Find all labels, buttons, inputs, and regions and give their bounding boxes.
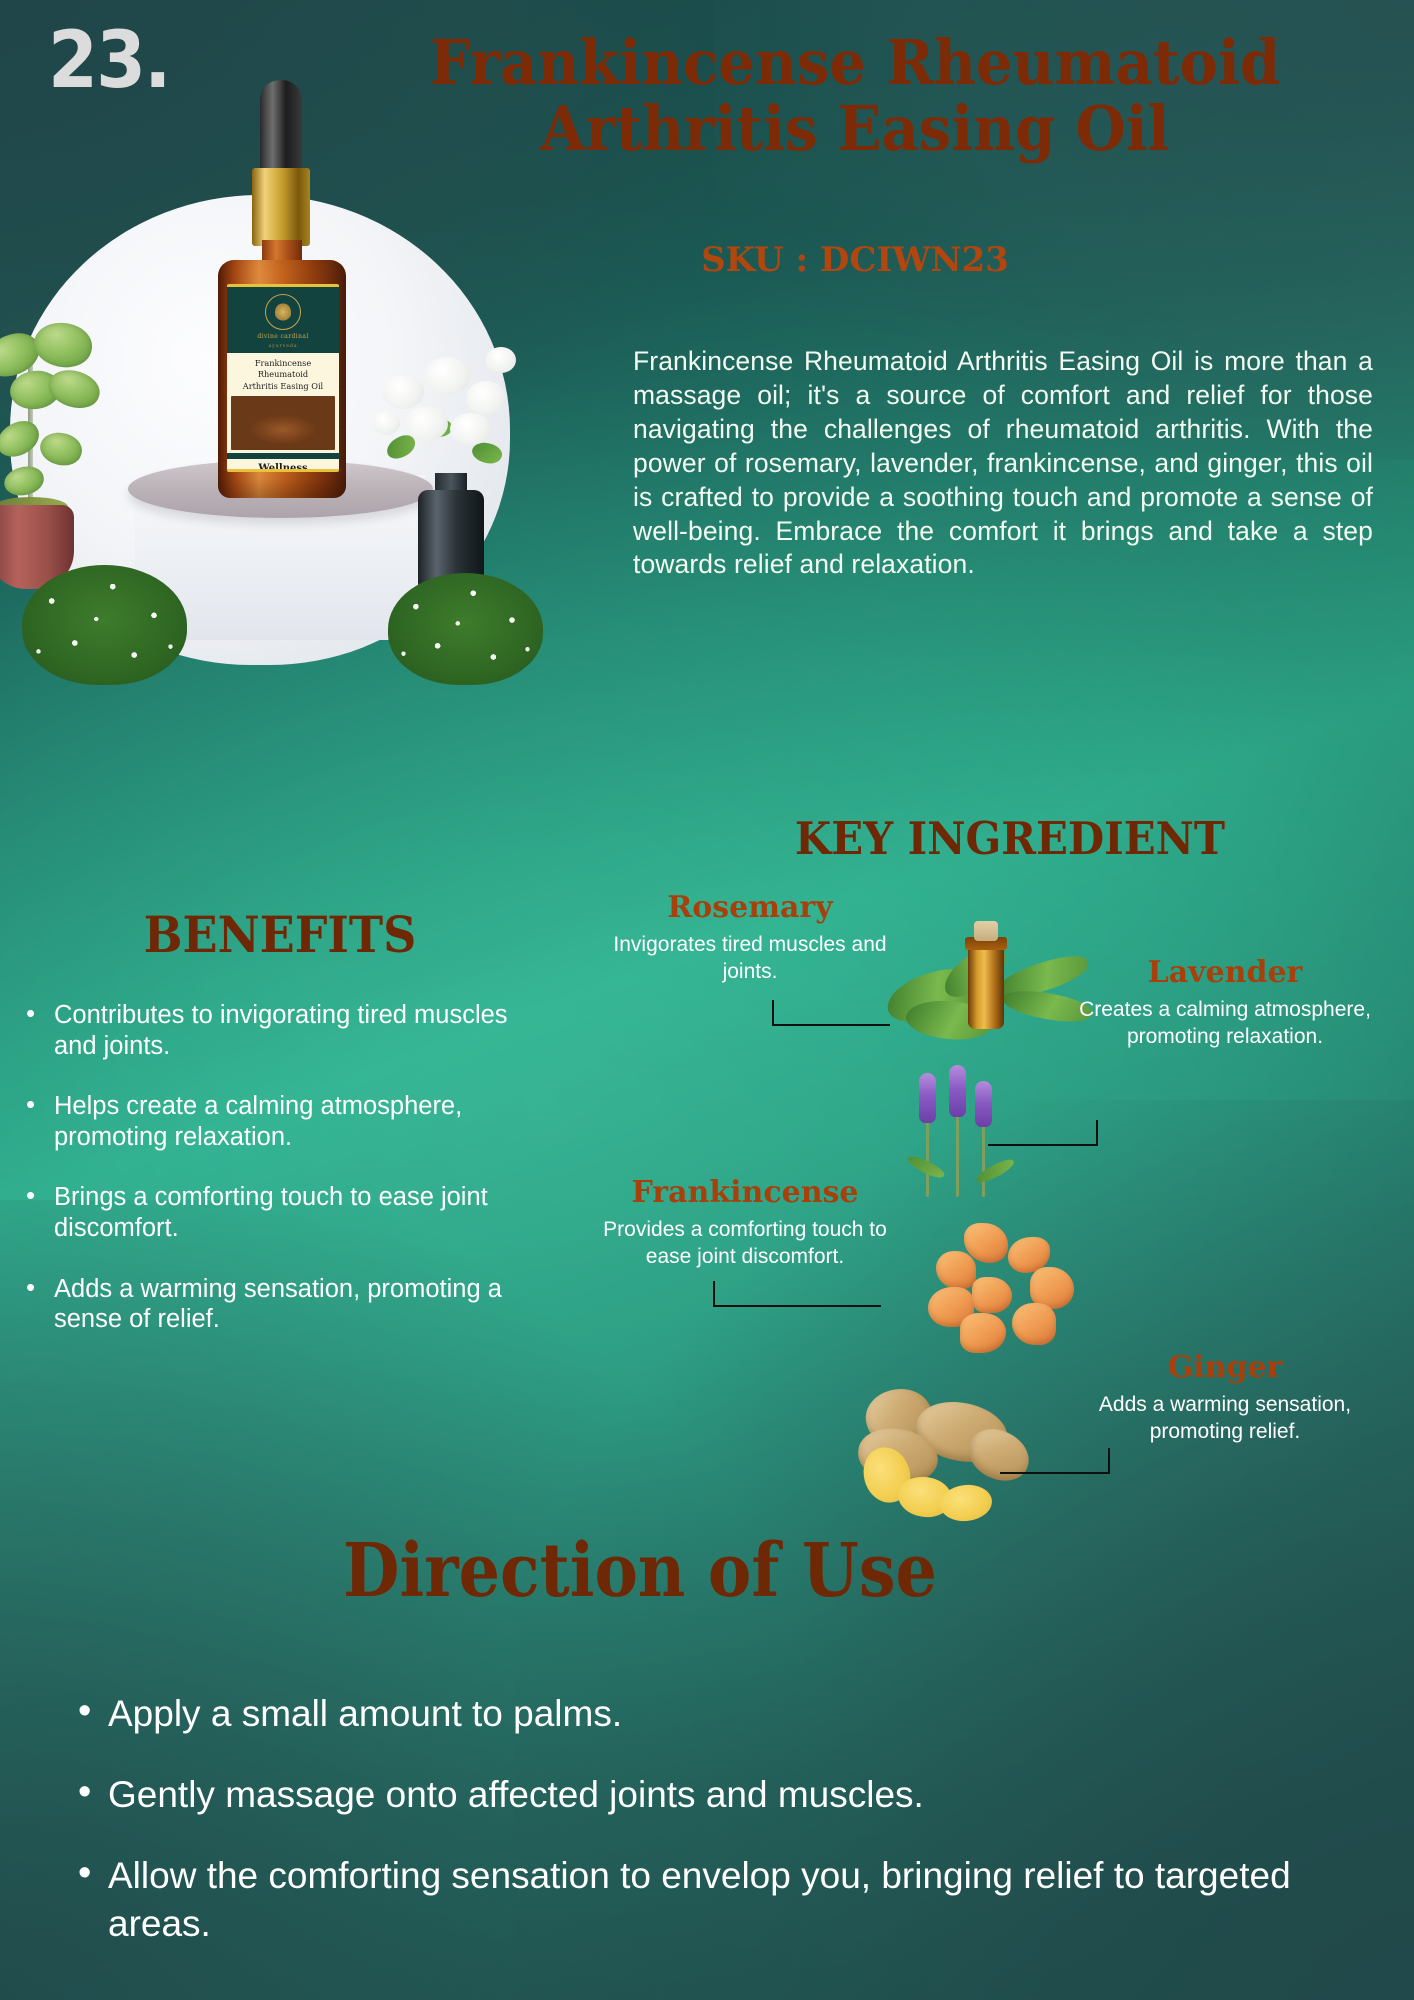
lavender-stem	[926, 1117, 929, 1197]
list-item: Apply a small amount to palms.	[40, 1690, 1380, 1739]
list-item: Brings a comforting touch to ease joint …	[14, 1182, 514, 1243]
list-item: Gently massage onto affected joints and …	[40, 1771, 1380, 1820]
direction-of-use-list: Apply a small amount to palms. Gently ma…	[40, 1690, 1380, 1981]
list-item: Allow the comforting sensation to envelo…	[40, 1852, 1380, 1950]
ingredient-ginger: Ginger Adds a warming sensation, promoti…	[1055, 1350, 1395, 1446]
lavender-leader-line	[988, 1120, 1098, 1146]
list-item: Helps create a calming atmosphere, promo…	[14, 1091, 514, 1152]
ingredient-lavender: Lavender Creates a calming atmosphere, p…	[1060, 955, 1390, 1051]
page-title-line1: Frankincense Rheumatoid	[367, 30, 1344, 96]
list-item: Contributes to invigorating tired muscle…	[14, 1000, 514, 1061]
product-hero-image: divine cardinal ayurveda Frankincense Rh…	[0, 175, 600, 695]
ingredient-description: Invigorates tired muscles and joints.	[600, 931, 900, 986]
lavender-flower	[949, 1065, 966, 1117]
ingredient-frankincense: Frankincense Provides a comforting touch…	[585, 1175, 905, 1271]
product-bottle: divine cardinal ayurveda Frankincense Rh…	[212, 80, 352, 500]
page-title: Frankincense Rheumatoid Arthritis Easing…	[367, 30, 1344, 161]
resin-chunk	[936, 1251, 976, 1289]
key-ingredient-heading: KEY INGREDIENT	[685, 812, 1336, 865]
tree-of-life-logo-icon	[265, 294, 301, 330]
white-flower	[404, 407, 448, 441]
resin-chunk	[1012, 1303, 1056, 1345]
page-title-line2: Arthritis Easing Oil	[367, 96, 1344, 162]
resin-chunk	[960, 1313, 1006, 1353]
ingredient-rosemary: Rosemary Invigorates tired muscles and j…	[600, 890, 900, 986]
flowering-shrub	[22, 565, 187, 685]
benefits-list: Contributes to invigorating tired muscle…	[14, 1000, 514, 1365]
product-label: divine cardinal ayurveda Frankincense Rh…	[227, 284, 339, 472]
lavender-flower	[919, 1073, 936, 1123]
direction-of-use-heading: Direction of Use	[235, 1528, 1045, 1614]
white-flower	[486, 347, 516, 373]
product-description: Frankincense Rheumatoid Arthritis Easing…	[633, 345, 1373, 582]
ingredient-name: Ginger	[1055, 1350, 1395, 1385]
ingredient-description: Provides a comforting touch to ease join…	[585, 1216, 905, 1271]
ingredient-name: Frankincense	[585, 1175, 905, 1210]
white-flower	[372, 411, 400, 435]
lavender-leaf	[973, 1156, 1016, 1185]
white-flower	[382, 375, 424, 409]
frankincense-resin-image	[920, 1215, 1095, 1365]
ginger-leader-line	[1000, 1448, 1110, 1474]
label-brand-subtitle: ayurveda	[227, 344, 339, 349]
label-name-line2: Arthritis Easing Oil	[230, 381, 336, 392]
ingredient-name: Rosemary	[600, 890, 900, 925]
ingredient-description: Creates a calming atmosphere, promoting …	[1060, 996, 1390, 1051]
label-header: divine cardinal ayurveda	[227, 287, 339, 353]
gold-collar	[252, 168, 310, 246]
label-resin-bowl-photo	[231, 396, 335, 450]
ingredient-name: Lavender	[1060, 955, 1390, 990]
frankincense-leader-line	[713, 1281, 881, 1307]
label-brand-name: divine cardinal	[227, 333, 339, 340]
white-flower	[424, 357, 470, 395]
lavender-stem	[956, 1109, 959, 1197]
list-item: Adds a warming sensation, promoting a se…	[14, 1274, 514, 1335]
vial-cork	[974, 921, 998, 941]
label-product-name: Frankincense Rheumatoid Arthritis Easing…	[227, 353, 339, 396]
white-flower	[466, 381, 506, 415]
amber-bottle-body: divine cardinal ayurveda Frankincense Rh…	[218, 260, 346, 498]
label-name-line1: Frankincense Rheumatoid	[230, 358, 336, 381]
lavender-stem	[982, 1123, 985, 1197]
essential-oil-vial	[968, 937, 1004, 1029]
ingredient-description: Adds a warming sensation, promoting reli…	[1055, 1391, 1395, 1446]
dropper-cap	[260, 80, 302, 172]
rosemary-leader-line	[772, 1000, 890, 1026]
slide-number: 23.	[48, 22, 170, 100]
flowering-shrub	[388, 573, 543, 685]
benefits-heading: BENEFITS	[68, 905, 491, 964]
label-category: Wellness	[227, 459, 339, 472]
white-flower	[450, 413, 492, 445]
resin-chunk	[972, 1277, 1012, 1313]
